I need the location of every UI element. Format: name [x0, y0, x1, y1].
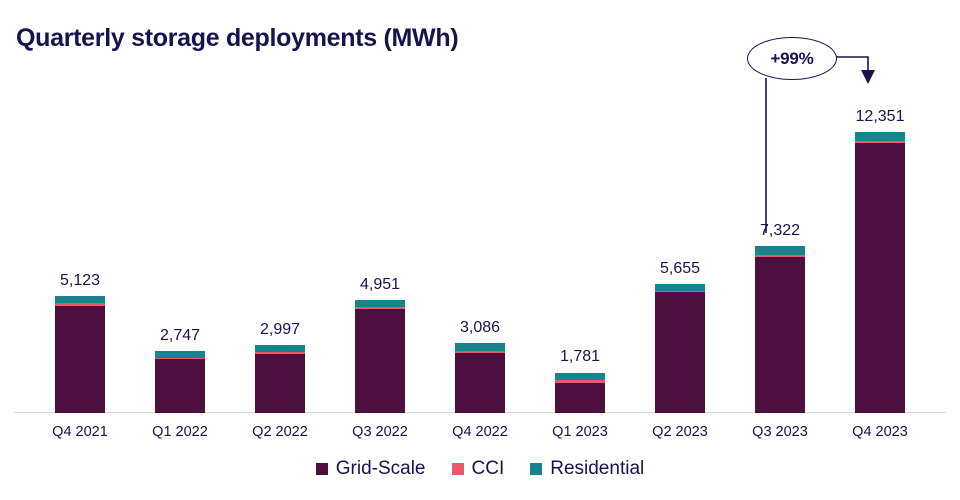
bar-value-label: 5,123 — [33, 272, 127, 290]
bar-group[interactable]: 4,951 — [355, 300, 405, 413]
bar-value-label: 2,747 — [133, 327, 227, 345]
bar-group[interactable]: 7,322 — [755, 246, 805, 413]
bar-group[interactable]: 2,997 — [255, 345, 305, 413]
bar-value-label: 3,086 — [433, 319, 527, 337]
bar-segment-residential[interactable] — [155, 351, 205, 359]
bar-value-label: 5,655 — [633, 260, 727, 278]
bar-segment-grid-scale[interactable] — [55, 306, 105, 413]
chart-container: Quarterly storage deployments (MWh) 5,12… — [0, 0, 960, 500]
bar-segment-residential[interactable] — [555, 373, 605, 381]
bar-segment-grid-scale[interactable] — [155, 359, 205, 413]
bar-segment-residential[interactable] — [455, 343, 505, 351]
bar-stack[interactable] — [855, 132, 905, 413]
bar-segment-residential[interactable] — [255, 345, 305, 353]
bar-group[interactable]: 3,086 — [455, 343, 505, 413]
legend-item-label: Grid-Scale — [336, 458, 426, 480]
legend-item[interactable]: Residential — [530, 458, 644, 480]
legend-item[interactable]: Grid-Scale — [316, 458, 426, 480]
x-axis-tick-label: Q3 2022 — [325, 424, 435, 440]
bar-value-label: 7,322 — [733, 222, 827, 240]
legend-item[interactable]: CCI — [452, 458, 505, 480]
bar-segment-residential[interactable] — [855, 132, 905, 141]
x-axis-tick-label: Q1 2022 — [125, 424, 235, 440]
bar-segment-residential[interactable] — [755, 246, 805, 255]
bar-value-label: 1,781 — [533, 348, 627, 366]
x-axis-tick-label: Q3 2023 — [725, 424, 835, 440]
bar-segment-grid-scale[interactable] — [855, 143, 905, 413]
bar-segment-grid-scale[interactable] — [255, 354, 305, 413]
bar-stack[interactable] — [355, 300, 405, 413]
bar-value-label: 12,351 — [833, 108, 927, 126]
bar-stack[interactable] — [55, 296, 105, 413]
x-axis-tick-label: Q4 2021 — [25, 424, 135, 440]
bar-group[interactable]: 5,655 — [655, 284, 705, 413]
bar-group[interactable]: 12,351 — [855, 132, 905, 413]
bar-segment-grid-scale[interactable] — [555, 383, 605, 413]
legend-item-label: Residential — [550, 458, 644, 480]
bar-segment-grid-scale[interactable] — [355, 309, 405, 413]
bar-stack[interactable] — [455, 343, 505, 413]
bar-segment-residential[interactable] — [655, 284, 705, 291]
bar-stack[interactable] — [155, 351, 205, 413]
bar-value-label: 4,951 — [333, 276, 427, 294]
bar-value-label: 2,997 — [233, 321, 327, 339]
legend-swatch-cci — [452, 463, 464, 475]
bar-segment-grid-scale[interactable] — [455, 353, 505, 413]
bar-segment-grid-scale[interactable] — [655, 292, 705, 413]
bar-stack[interactable] — [255, 345, 305, 413]
x-axis-tick-label: Q1 2023 — [525, 424, 635, 440]
chart-legend: Grid-ScaleCCIResidential — [0, 458, 960, 480]
bar-stack[interactable] — [555, 372, 605, 413]
legend-item-label: CCI — [472, 458, 505, 480]
bar-segment-grid-scale[interactable] — [755, 257, 805, 413]
legend-swatch-grid-scale — [316, 463, 328, 475]
bar-group[interactable]: 5,123 — [55, 296, 105, 413]
bar-stack[interactable] — [755, 246, 805, 413]
x-axis-tick-label: Q4 2023 — [825, 424, 935, 440]
bar-group[interactable]: 1,781 — [555, 372, 605, 413]
bar-stack[interactable] — [655, 284, 705, 413]
x-axis-tick-label: Q2 2022 — [225, 424, 335, 440]
x-axis-tick-label: Q4 2022 — [425, 424, 535, 440]
bar-group[interactable]: 2,747 — [155, 351, 205, 413]
bar-segment-residential[interactable] — [55, 296, 105, 303]
legend-swatch-residential — [530, 463, 542, 475]
growth-callout-label: +99% — [770, 49, 813, 69]
bar-segment-residential[interactable] — [355, 300, 405, 307]
x-axis-tick-label: Q2 2023 — [625, 424, 735, 440]
growth-callout-badge: +99% — [747, 37, 837, 80]
